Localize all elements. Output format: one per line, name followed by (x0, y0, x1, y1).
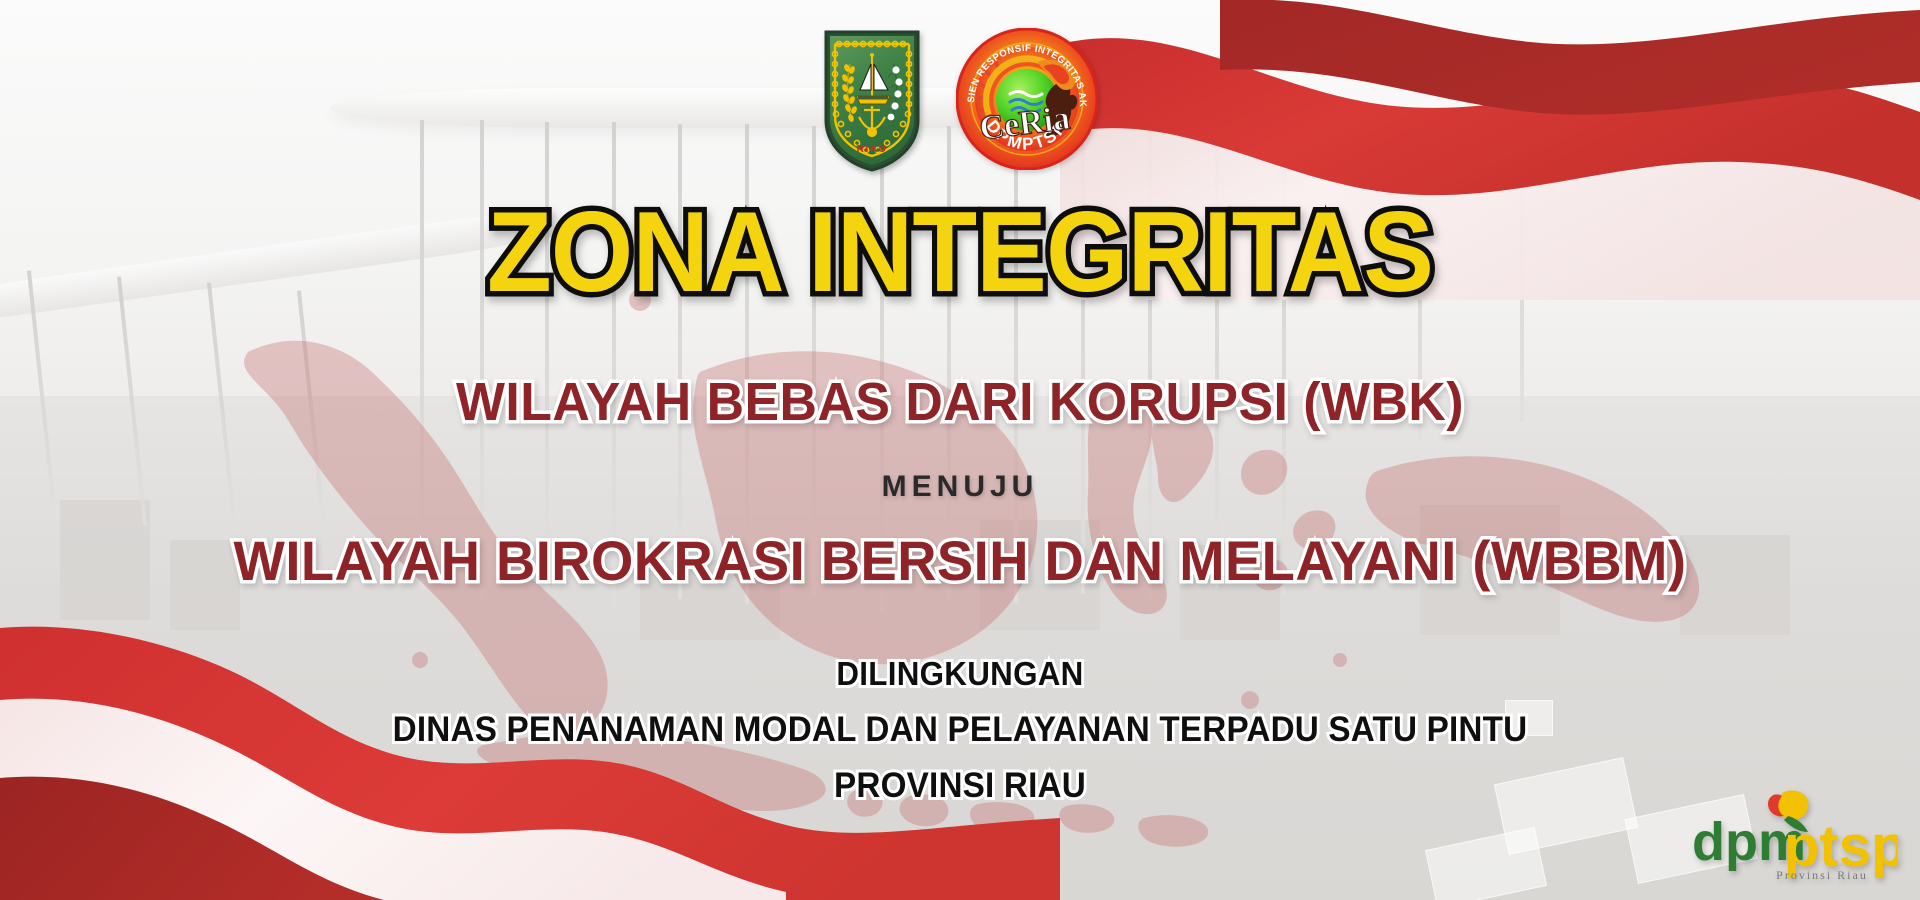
dpmptsp-wordmark-icon: dpm ptsp Provinsi Riau (1672, 786, 1898, 882)
agency-name-line-2: PROVINSI RIAU (48, 768, 1872, 803)
zona-integritas-banner: RIAU (0, 0, 1920, 900)
banner-text-block: ZONA INTEGRITAS WILAYAH BEBAS DARI KORUP… (0, 0, 1920, 900)
subtitle-wbk: WILAYAH BEBAS DARI KORUPSI (WBK) (38, 375, 1881, 429)
subtitle-wbbm: WILAYAH BIROKRASI BERSIH DAN MELAYANI (W… (29, 533, 1891, 589)
dpmptsp-tagline: Provinsi Riau (1776, 868, 1868, 882)
scope-label: DILINGKUNGAN (48, 657, 1872, 690)
agency-name-line-1: DINAS PENANAMAN MODAL DAN PELAYANAN TERP… (48, 712, 1872, 747)
connector-label: MENUJU (0, 472, 1920, 502)
page-title: ZONA INTEGRITAS (67, 196, 1853, 310)
